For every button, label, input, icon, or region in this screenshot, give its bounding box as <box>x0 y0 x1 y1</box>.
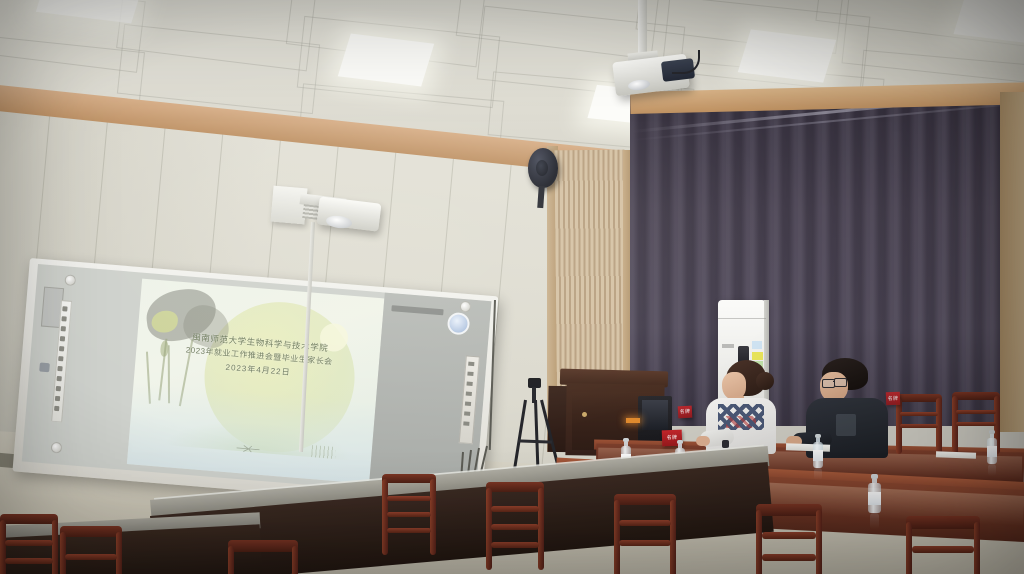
wall-corner-right <box>1000 92 1024 432</box>
air-conditioner-brand <box>722 344 734 348</box>
glasses-bridge <box>833 381 835 382</box>
person-left-hand <box>696 436 710 446</box>
podium-knob[interactable] <box>582 412 587 417</box>
speaker-cone <box>536 160 548 176</box>
equipment-screen <box>642 400 668 430</box>
name-card-text: 名牌 <box>680 409 691 416</box>
name-card-text: 名牌 <box>888 395 899 401</box>
ac-label-blue <box>752 341 762 349</box>
person-left-hair-bun <box>756 372 774 390</box>
paper-sheet <box>786 443 830 452</box>
board-corner-screw <box>64 274 76 286</box>
projection-screen[interactable]: 闽南师范大学生物科学与技术学院 2023年就业工作推进会暨毕业生家长会 2023… <box>22 264 492 499</box>
ac-label-yellow <box>752 352 763 360</box>
projector-wall-plate <box>270 186 307 225</box>
air-conditioner-side <box>764 300 769 408</box>
podium-indicator-light <box>626 418 640 423</box>
slide-seal-mark <box>311 445 336 459</box>
tshirt-graphic <box>836 414 856 436</box>
name-card: 名牌 <box>886 392 900 405</box>
air-conditioner-seam <box>718 318 766 319</box>
board-button-left[interactable] <box>39 362 50 372</box>
name-card: 名牌 <box>678 406 693 419</box>
board-corner-screw <box>51 442 63 454</box>
glasses-icon <box>834 378 847 387</box>
sweater-pattern-accent <box>726 416 756 428</box>
name-card-text: 名牌 <box>667 435 678 441</box>
room-photo-scene: 闽南师范大学生物科学与技术学院 2023年就业工作推进会暨毕业生家长会 2023… <box>0 0 1024 574</box>
